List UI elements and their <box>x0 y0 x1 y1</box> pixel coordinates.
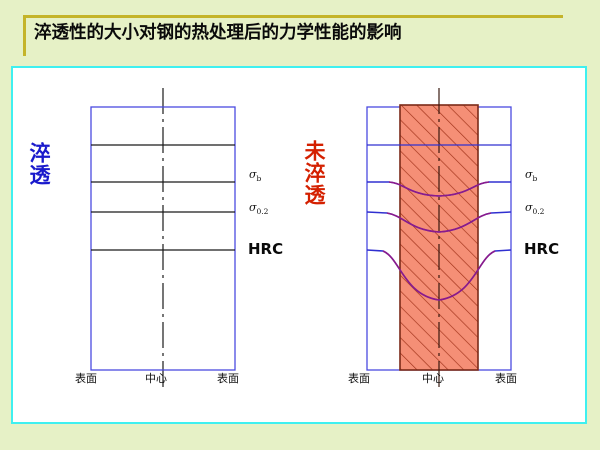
right-axis-label-surface-2: 表面 <box>495 370 517 386</box>
slide-title: 淬透性的大小对钢的热处理后的力学性能的影响 <box>34 20 402 46</box>
left-label-sigma-0-2: σ0.2 <box>249 201 268 216</box>
left-label-hrc: HRC <box>248 240 283 258</box>
title-accent-left-rule <box>23 15 26 56</box>
left-diagram-caption: 淬透 <box>28 142 51 186</box>
right-label-hrc: HRC <box>524 240 559 258</box>
title-accent-top-rule <box>23 15 563 18</box>
right-axis-label-surface-1: 表面 <box>348 370 370 386</box>
left-label-sigma-b: σb <box>249 168 261 183</box>
right-label-sigma-b: σb <box>525 168 537 183</box>
right-diagram-caption: 未淬透 <box>303 140 326 206</box>
right-label-sigma-0-2: σ0.2 <box>525 201 544 216</box>
title-bar: 淬透性的大小对钢的热处理后的力学性能的影响 <box>0 0 600 64</box>
left-axis-label-center: 中心 <box>145 370 167 386</box>
right-axis-label-center: 中心 <box>422 370 444 386</box>
left-axis-label-surface-1: 表面 <box>75 370 97 386</box>
left-axis-label-surface-2: 表面 <box>217 370 239 386</box>
